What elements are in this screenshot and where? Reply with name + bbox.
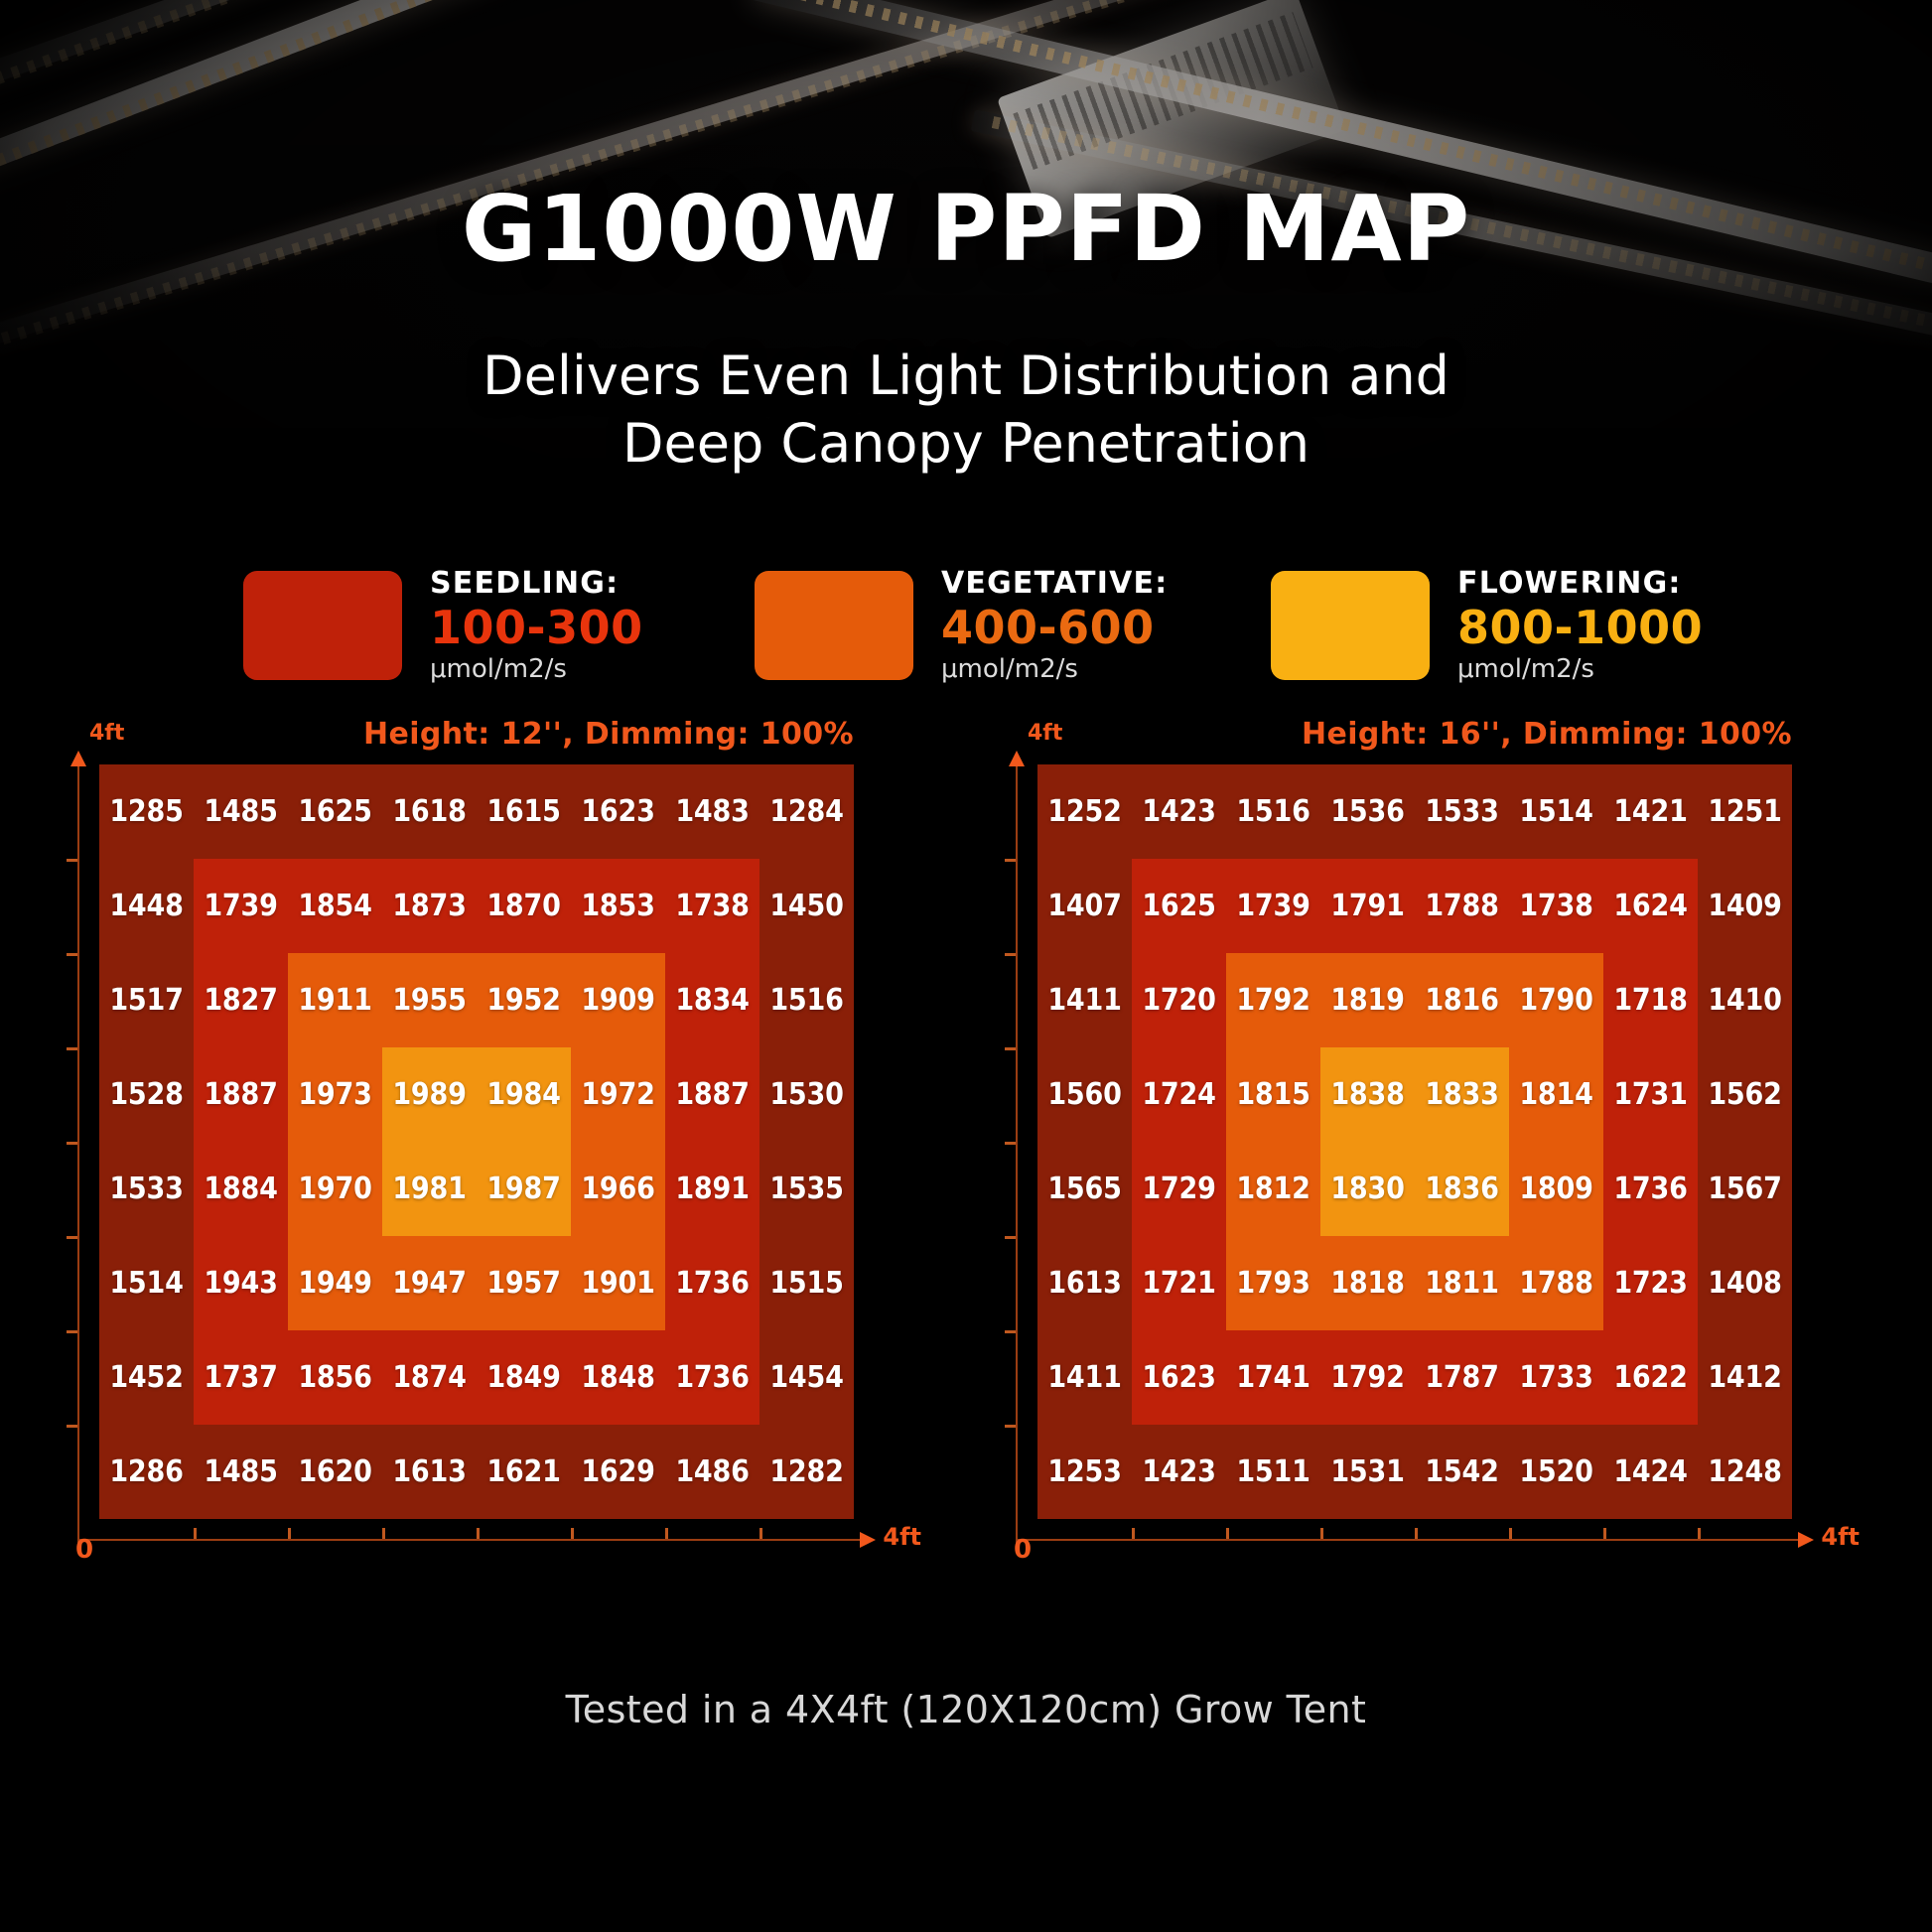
heatmap-cell: 1533: [99, 1142, 194, 1236]
heatmap-cell: 1562: [1698, 1047, 1792, 1142]
y-axis-tick: [67, 1330, 77, 1333]
y-axis-16in: [1016, 764, 1018, 1549]
heatmap-cell: 1793: [1226, 1236, 1320, 1330]
heatmap-cell: 1542: [1415, 1425, 1509, 1519]
x-axis-tick: [1226, 1528, 1229, 1539]
origin-label-12in: 0: [75, 1535, 93, 1565]
heatmap-cell: 1450: [759, 859, 854, 953]
heatmap-cell: 1830: [1320, 1142, 1415, 1236]
heatmap-cell: 1947: [382, 1236, 477, 1330]
heatmap-cell: 1792: [1320, 1330, 1415, 1425]
y-axis-tick: [67, 859, 77, 862]
y-axis-tick: [67, 1236, 77, 1239]
heatmap-cell: 1284: [759, 764, 854, 859]
heatmap-cell: 1966: [571, 1142, 665, 1236]
heatmap-cell: 1873: [382, 859, 477, 953]
ppfd-map-12in: Height: 12'', Dimming: 100% 4ft 0 4ft 12…: [99, 764, 854, 1519]
heatmap-cell: 1407: [1037, 859, 1132, 953]
heatmap-cell: 1448: [99, 859, 194, 953]
ppfd-legend: SEEDLING: 100-300 μmol/m2/s VEGETATIVE: …: [0, 556, 1932, 695]
heatmap-cell: 1792: [1226, 953, 1320, 1047]
heatmap-cell: 1791: [1320, 859, 1415, 953]
heatmap-cell: 1520: [1509, 1425, 1603, 1519]
x-axis-tick: [1603, 1528, 1606, 1539]
heatmap-cell: 1887: [665, 1047, 759, 1142]
legend-stage-seedling: SEEDLING:: [430, 566, 643, 602]
x-axis-tick: [571, 1528, 574, 1539]
ppfd-infographic: G1000W PPFD MAP Delivers Even Light Dist…: [0, 0, 1932, 1932]
heatmap-cell: 1827: [194, 953, 288, 1047]
heatmap-cell: 1853: [571, 859, 665, 953]
heatmap-cell: 1874: [382, 1330, 477, 1425]
heatmap-cell: 1567: [1698, 1142, 1792, 1236]
y-axis-tick: [1005, 1330, 1016, 1333]
heatmap-cell: 1973: [288, 1047, 382, 1142]
heatmap-cell: 1615: [477, 764, 571, 859]
heatmap-cell: 1511: [1226, 1425, 1320, 1519]
heatmap-cell: 1531: [1320, 1425, 1415, 1519]
legend-stage-vegetative: VEGETATIVE:: [941, 566, 1168, 602]
heatmap-cell: 1891: [665, 1142, 759, 1236]
heatmap-cell: 1955: [382, 953, 477, 1047]
heatmap-cell: 1624: [1603, 859, 1698, 953]
heatmap-cell: 1984: [477, 1047, 571, 1142]
heatmap-grid-12in: 1285148516251618161516231483128414481739…: [99, 764, 854, 1519]
legend-range-seedling: 100-300: [430, 602, 643, 654]
heatmap-cell: 1629: [571, 1425, 665, 1519]
heatmap-cell: 1625: [1132, 859, 1226, 953]
legend-item-seedling: SEEDLING: 100-300 μmol/m2/s: [243, 556, 643, 695]
heatmap-cell: 1723: [1603, 1236, 1698, 1330]
map-condition-label-12in: Height: 12'', Dimming: 100%: [363, 717, 854, 752]
heatmap-cell: 1814: [1509, 1047, 1603, 1142]
heatmap-cell: 1613: [382, 1425, 477, 1519]
x-axis-tick: [477, 1528, 480, 1539]
heatmap-cell: 1718: [1603, 953, 1698, 1047]
heatmap-cell: 1536: [1320, 764, 1415, 859]
x-axis-tick: [1698, 1528, 1701, 1539]
heatmap-cell: 1251: [1698, 764, 1792, 859]
heatmap-cell: 1530: [759, 1047, 854, 1142]
heatmap-cell: 1410: [1698, 953, 1792, 1047]
x-axis-12in: [77, 1539, 862, 1541]
x-axis-tick: [1415, 1528, 1418, 1539]
heatmap-cell: 1981: [382, 1142, 477, 1236]
legend-range-flowering: 800-1000: [1457, 602, 1703, 654]
heatmap-cell: 1848: [571, 1330, 665, 1425]
heatmap-cell: 1949: [288, 1236, 382, 1330]
x-axis-16in: [1016, 1539, 1800, 1541]
x-axis-tick: [1320, 1528, 1323, 1539]
heatmap-cell: 1613: [1037, 1236, 1132, 1330]
page-title: G1000W PPFD MAP: [0, 184, 1932, 275]
heatmap-cell: 1884: [194, 1142, 288, 1236]
y-axis-tick: [1005, 859, 1016, 862]
ppfd-map-16in: Height: 16'', Dimming: 100% 4ft 0 4ft 12…: [1037, 764, 1792, 1519]
heatmap-cell: 1253: [1037, 1425, 1132, 1519]
heatmap-cell: 1421: [1603, 764, 1698, 859]
heatmap-cell: 1901: [571, 1236, 665, 1330]
x-axis-end-label-16in: 4ft: [1821, 1523, 1860, 1551]
heatmap-cell: 1720: [1132, 953, 1226, 1047]
heatmap-cell: 1849: [477, 1330, 571, 1425]
heatmap-cell: 1621: [477, 1425, 571, 1519]
heatmap-cell: 1514: [99, 1236, 194, 1330]
heatmap-cell: 1411: [1037, 953, 1132, 1047]
heatmap-cell: 1412: [1698, 1330, 1792, 1425]
legend-item-vegetative: VEGETATIVE: 400-600 μmol/m2/s: [755, 556, 1168, 695]
heatmap-cell: 1282: [759, 1425, 854, 1519]
heatmap-cell: 1411: [1037, 1330, 1132, 1425]
legend-unit-flowering: μmol/m2/s: [1457, 654, 1703, 685]
y-axis-tick: [1005, 1425, 1016, 1428]
heatmap-cell: 1818: [1320, 1236, 1415, 1330]
legend-range-vegetative: 400-600: [941, 602, 1168, 654]
y-axis-tick: [1005, 1142, 1016, 1145]
legend-swatch-seedling: [243, 571, 402, 680]
y-axis-tick: [67, 1425, 77, 1428]
heatmap-cells-16in: 1252142315161536153315141421125114071625…: [1037, 764, 1792, 1519]
y-axis-tick: [1005, 1047, 1016, 1050]
heatmap-cell: 1618: [382, 764, 477, 859]
heatmap-cell: 1870: [477, 859, 571, 953]
heatmap-cell: 1736: [665, 1330, 759, 1425]
heatmap-cell: 1515: [759, 1236, 854, 1330]
y-axis-top-label-12in: 4ft: [89, 721, 124, 746]
heatmap-cell: 1286: [99, 1425, 194, 1519]
heatmap-cell: 1423: [1132, 764, 1226, 859]
heatmap-cell: 1409: [1698, 859, 1792, 953]
heatmap-cell: 1622: [1603, 1330, 1698, 1425]
heatmap-cell: 1739: [194, 859, 288, 953]
x-axis-tick: [288, 1528, 291, 1539]
heatmap-cell: 1815: [1226, 1047, 1320, 1142]
heatmap-cell: 1854: [288, 859, 382, 953]
heatmap-cell: 1514: [1509, 764, 1603, 859]
heatmap-cell: 1838: [1320, 1047, 1415, 1142]
heatmap-cell: 1957: [477, 1236, 571, 1330]
heatmap-cell: 1528: [99, 1047, 194, 1142]
heatmap-cell: 1909: [571, 953, 665, 1047]
heatmap-cell: 1788: [1415, 859, 1509, 953]
y-axis-top-label-16in: 4ft: [1028, 721, 1062, 746]
heatmap-cell: 1620: [288, 1425, 382, 1519]
page-subtitle: Delivers Even Light Distribution and Dee…: [0, 343, 1932, 478]
heatmap-cell: 1819: [1320, 953, 1415, 1047]
legend-swatch-vegetative: [755, 571, 913, 680]
x-axis-end-label-12in: 4ft: [883, 1523, 921, 1551]
heatmap-cell: 1790: [1509, 953, 1603, 1047]
heatmap-cell: 1623: [1132, 1330, 1226, 1425]
heatmap-cell: 1625: [288, 764, 382, 859]
y-axis-tick: [67, 1047, 77, 1050]
y-axis-12in: [77, 764, 79, 1549]
legend-item-flowering: FLOWERING: 800-1000 μmol/m2/s: [1271, 556, 1703, 695]
subtitle-line-2: Deep Canopy Penetration: [0, 410, 1932, 478]
heatmap-cell: 1731: [1603, 1047, 1698, 1142]
x-axis-tick: [382, 1528, 385, 1539]
heatmap-cell: 1483: [665, 764, 759, 859]
heatmap-cell: 1424: [1603, 1425, 1698, 1519]
legend-unit-vegetative: μmol/m2/s: [941, 654, 1168, 685]
heatmap-cell: 1972: [571, 1047, 665, 1142]
heatmap-cell: 1952: [477, 953, 571, 1047]
heatmap-cell: 1452: [99, 1330, 194, 1425]
heatmap-cell: 1285: [99, 764, 194, 859]
heatmap-cell: 1887: [194, 1047, 288, 1142]
heatmap-cell: 1454: [759, 1330, 854, 1425]
heatmap-cell: 1486: [665, 1425, 759, 1519]
y-axis-tick: [1005, 1236, 1016, 1239]
heatmap-cell: 1738: [665, 859, 759, 953]
heatmap-cell: 1836: [1415, 1142, 1509, 1236]
heatmap-cell: 1423: [1132, 1425, 1226, 1519]
heatmap-cell: 1724: [1132, 1047, 1226, 1142]
heatmap-cell: 1248: [1698, 1425, 1792, 1519]
heatmap-cell: 1809: [1509, 1142, 1603, 1236]
heatmap-cell: 1834: [665, 953, 759, 1047]
heatmap-cell: 1729: [1132, 1142, 1226, 1236]
heatmap-cell: 1736: [665, 1236, 759, 1330]
legend-swatch-flowering: [1271, 571, 1430, 680]
heatmap-cells-12in: 1285148516251618161516231483128414481739…: [99, 764, 854, 1519]
heatmap-cell: 1565: [1037, 1142, 1132, 1236]
heatmap-cell: 1252: [1037, 764, 1132, 859]
footer-note: Tested in a 4X4ft (120X120cm) Grow Tent: [0, 1688, 1932, 1731]
heatmap-cell: 1970: [288, 1142, 382, 1236]
map-condition-label-16in: Height: 16'', Dimming: 100%: [1302, 717, 1792, 752]
heatmap-cell: 1943: [194, 1236, 288, 1330]
heatmap-cell: 1485: [194, 764, 288, 859]
heatmap-cell: 1989: [382, 1047, 477, 1142]
y-axis-tick: [1005, 953, 1016, 956]
heatmap-cell: 1911: [288, 953, 382, 1047]
heatmap-cell: 1485: [194, 1425, 288, 1519]
heatmap-cell: 1623: [571, 764, 665, 859]
heatmap-cell: 1833: [1415, 1047, 1509, 1142]
legend-unit-seedling: μmol/m2/s: [430, 654, 643, 685]
subtitle-line-1: Delivers Even Light Distribution and: [0, 343, 1932, 410]
heatmap-cell: 1560: [1037, 1047, 1132, 1142]
heatmap-cell: 1733: [1509, 1330, 1603, 1425]
heatmap-cell: 1738: [1509, 859, 1603, 953]
heatmap-cell: 1856: [288, 1330, 382, 1425]
heatmap-cell: 1987: [477, 1142, 571, 1236]
x-axis-tick: [1509, 1528, 1512, 1539]
y-axis-tick: [67, 1142, 77, 1145]
heatmap-cell: 1533: [1415, 764, 1509, 859]
x-axis-tick: [759, 1528, 762, 1539]
x-axis-tick: [194, 1528, 197, 1539]
origin-label-16in: 0: [1014, 1535, 1032, 1565]
heatmap-cell: 1741: [1226, 1330, 1320, 1425]
heatmap-cell: 1737: [194, 1330, 288, 1425]
x-axis-tick: [665, 1528, 668, 1539]
heatmap-cell: 1739: [1226, 859, 1320, 953]
heatmap-cell: 1535: [759, 1142, 854, 1236]
heatmap-cell: 1787: [1415, 1330, 1509, 1425]
heatmap-grid-16in: 1252142315161536153315141421125114071625…: [1037, 764, 1792, 1519]
heatmap-cell: 1408: [1698, 1236, 1792, 1330]
heatmap-cell: 1788: [1509, 1236, 1603, 1330]
y-axis-tick: [67, 953, 77, 956]
heatmap-cell: 1736: [1603, 1142, 1698, 1236]
legend-stage-flowering: FLOWERING:: [1457, 566, 1703, 602]
heatmap-cell: 1517: [99, 953, 194, 1047]
heatmap-cell: 1721: [1132, 1236, 1226, 1330]
x-axis-tick: [1132, 1528, 1135, 1539]
heatmap-cell: 1816: [1415, 953, 1509, 1047]
heatmap-cell: 1811: [1415, 1236, 1509, 1330]
heatmap-cell: 1516: [759, 953, 854, 1047]
heatmap-cell: 1516: [1226, 764, 1320, 859]
heatmap-cell: 1812: [1226, 1142, 1320, 1236]
